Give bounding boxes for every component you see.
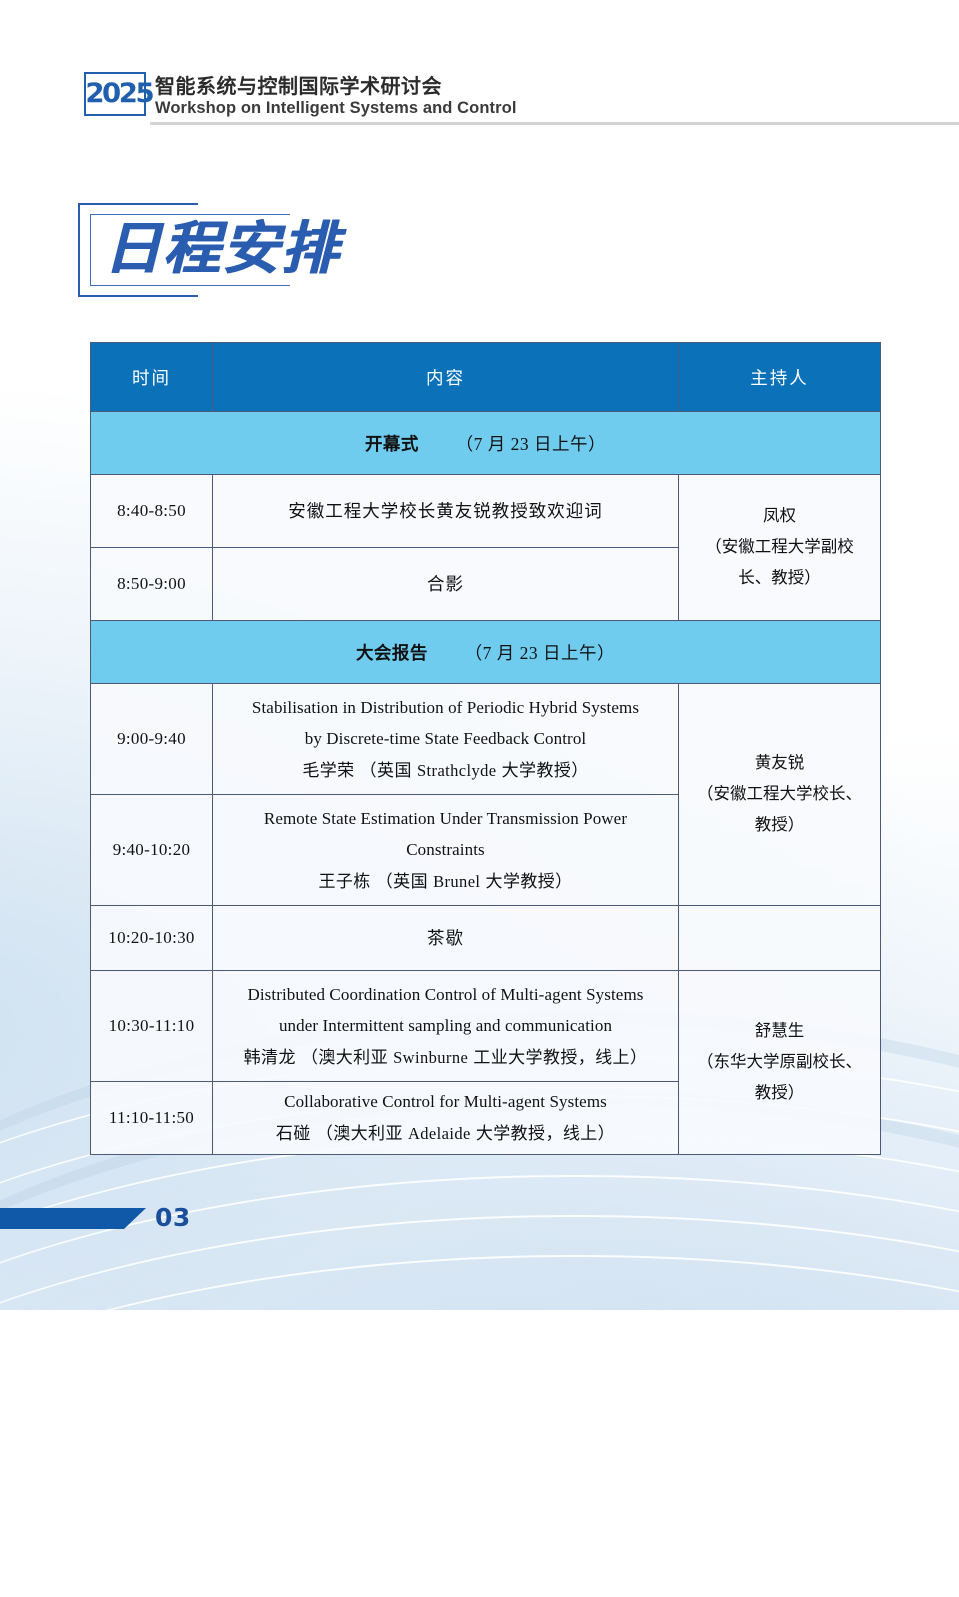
cell-content: Stabilisation in Distribution of Periodi… [213,684,679,795]
host-affiliation-line2: 教授） [679,1078,880,1109]
page-number: 03 [155,1203,191,1232]
host-affiliation-line1: （安徽工程大学副校 [679,532,880,563]
host-name: 黄友锐 [679,748,880,779]
speaker-institution: Adelaide [408,1124,471,1143]
cell-content: Collaborative Control for Multi-agent Sy… [213,1082,679,1155]
speaker-name-tail: 大学教授，线上） [471,1124,615,1143]
cell-host: 舒慧生 （东华大学原副校长、 教授） [679,971,881,1155]
table-row: 8:40-8:50 安徽工程大学校长黄友锐教授致欢迎词 凤权 （安徽工程大学副校… [91,475,881,548]
section-date: （7 月 23 日上午） [465,643,615,663]
cell-time: 9:40-10:20 [91,795,213,906]
talk-title-line1: Distributed Coordination Control of Mult… [213,979,678,1010]
cell-time: 10:30-11:10 [91,971,213,1082]
column-header-host: 主持人 [679,343,881,412]
page-title-block: 日程安排 [78,203,408,299]
talk-speaker: 韩清龙 （澳大利亚 Swinburne 工业大学教授，线上） [213,1041,678,1074]
bg-wave-6 [0,1255,959,1597]
cell-time: 8:40-8:50 [91,475,213,548]
cell-time: 10:20-10:30 [91,906,213,971]
host-name: 凤权 [679,501,880,532]
section-banner-row: 大会报告 （7 月 23 日上午） [91,621,881,684]
speaker-name: 毛学荣 （英国 [302,761,417,780]
footer-bar [0,1208,124,1229]
cell-time: 11:10-11:50 [91,1082,213,1155]
cell-host: 凤权 （安徽工程大学副校 长、教授） [679,475,881,621]
speaker-name-tail: 工业大学教授，线上） [468,1048,647,1067]
host-affiliation-line1: （东华大学原副校长、 [679,1047,880,1078]
content-text: 安徽工程大学校长黄友锐教授致欢迎词 [213,496,678,526]
talk-title-line2: by Discrete-time State Feedback Control [213,723,678,754]
talk-title-line1: Stabilisation in Distribution of Periodi… [213,692,678,723]
content-text: 合影 [213,569,678,599]
speaker-institution: Swinburne [393,1048,468,1067]
speaker-institution: Strathclyde [417,761,497,780]
speaker-name-tail: 大学教授） [497,761,589,780]
host-affiliation-line2: 长、教授） [679,563,880,594]
speaker-name: 石碰 （澳大利亚 [276,1124,408,1143]
page-footer: 03 [0,1203,300,1237]
talk-speaker: 石碰 （澳大利亚 Adelaide 大学教授，线上） [213,1117,678,1150]
speaker-institution: Brunel [433,872,480,891]
talk-title-line1: Collaborative Control for Multi-agent Sy… [213,1086,678,1117]
section-date: （7 月 23 日上午） [456,434,606,454]
table-header-row: 时间 内容 主持人 [91,343,881,412]
cell-content: 合影 [213,548,679,621]
schedule-table: 时间 内容 主持人 开幕式 （7 月 23 日上午） 8:40-8:50 安徽工… [90,342,881,1155]
cell-host-empty [679,906,881,971]
talk-speaker: 毛学荣 （英国 Strathclyde 大学教授） [213,754,678,787]
cell-time: 9:00-9:40 [91,684,213,795]
speaker-name-tail: 大学教授） [480,872,572,891]
masthead-divider-notch [110,103,156,125]
section-label: 大会报告 [356,643,428,663]
host-affiliation-line1: （安徽工程大学校长、 [679,779,880,810]
section-banner-opening: 开幕式 （7 月 23 日上午） [91,412,881,475]
section-banner-keynote: 大会报告 （7 月 23 日上午） [91,621,881,684]
speaker-name: 韩清龙 （澳大利亚 [244,1048,393,1067]
section-label: 开幕式 [365,434,419,454]
table-row-break: 10:20-10:30 茶歇 [91,906,881,971]
cell-time: 8:50-9:00 [91,548,213,621]
column-header-content: 内容 [213,343,679,412]
talk-speaker: 王子栋 （英国 Brunel 大学教授） [213,865,678,898]
table-row: 10:30-11:10 Distributed Coordination Con… [91,971,881,1082]
speaker-name: 王子栋 （英国 [318,872,433,891]
cell-content: 茶歇 [213,906,679,971]
talk-title-line1: Remote State Estimation Under Transmissi… [213,803,678,834]
masthead-divider [150,122,959,125]
masthead-title-cn: 智能系统与控制国际学术研讨会 [155,70,442,99]
host-name: 舒慧生 [679,1016,880,1047]
page-title: 日程安排 [104,209,340,289]
talk-title-line2: Constraints [213,834,678,865]
host-affiliation-line2: 教授） [679,810,880,841]
section-banner-row: 开幕式 （7 月 23 日上午） [91,412,881,475]
table-row: 9:00-9:40 Stabilisation in Distribution … [91,684,881,795]
masthead-title-en: Workshop on Intelligent Systems and Cont… [155,99,517,118]
masthead: 2025 智能系统与控制国际学术研讨会 Workshop on Intellig… [0,0,959,135]
content-text: 茶歇 [213,923,678,953]
cell-host: 黄友锐 （安徽工程大学校长、 教授） [679,684,881,906]
cell-content: Distributed Coordination Control of Mult… [213,971,679,1082]
footer-bar-tip-icon [124,1208,146,1229]
talk-title-line2: under Intermittent sampling and communic… [213,1010,678,1041]
column-header-time: 时间 [91,343,213,412]
cell-content: Remote State Estimation Under Transmissi… [213,795,679,906]
cell-content: 安徽工程大学校长黄友锐教授致欢迎词 [213,475,679,548]
